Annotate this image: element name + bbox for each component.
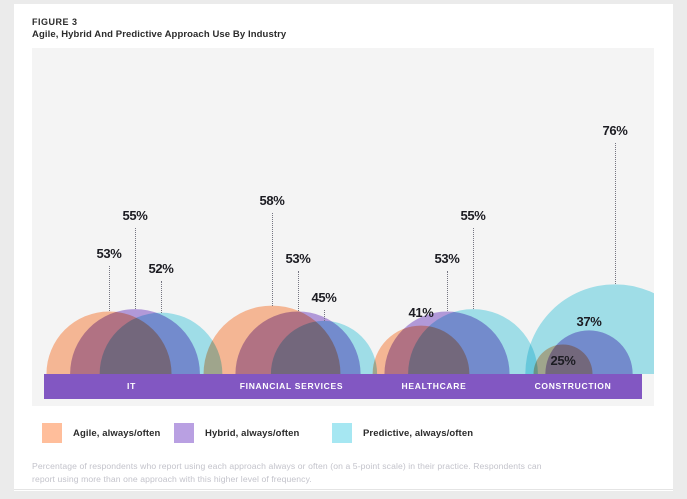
leader-line (161, 281, 162, 313)
chart-footnote: Percentage of respondents who report usi… (32, 460, 552, 486)
leader-line (272, 213, 273, 306)
axis-category-construction: CONSTRUCTION (504, 374, 642, 399)
chart-legend: Agile, always/oftenHybrid, always/oftenP… (32, 419, 654, 447)
category-axis-bar: ITFINANCIAL SERVICESHEALTHCARECONSTRUCTI… (44, 374, 642, 399)
value-label: 53% (434, 251, 459, 266)
value-label: 55% (460, 208, 485, 223)
legend-item: Hybrid, always/often (174, 419, 299, 447)
value-label: 45% (311, 290, 336, 305)
leader-line (447, 271, 448, 311)
leader-line (298, 271, 299, 311)
leader-line (324, 310, 325, 321)
value-label: 53% (285, 251, 310, 266)
value-label: 52% (148, 261, 173, 276)
legend-item: Predictive, always/often (332, 419, 473, 447)
axis-category-financial-services: FINANCIAL SERVICES (219, 374, 364, 399)
legend-swatch-icon (174, 423, 194, 443)
legend-label: Predictive, always/often (363, 428, 473, 439)
legend-label: Hybrid, always/often (205, 428, 299, 439)
leader-line (109, 266, 110, 311)
leader-line (615, 143, 616, 284)
section-divider (14, 489, 673, 490)
leader-line (135, 228, 136, 309)
figure-label: FIGURE 3 (32, 17, 78, 27)
legend-swatch-icon (332, 423, 352, 443)
page-title: Agile, Hybrid And Predictive Approach Us… (32, 29, 286, 40)
legend-swatch-icon (42, 423, 62, 443)
chart-panel: 53%55%52%58%53%45%41%53%55%25%37%76% ITF… (32, 48, 654, 406)
value-label: 37% (576, 314, 601, 329)
value-label: 25% (550, 353, 575, 368)
axis-category-healthcare: HEALTHCARE (364, 374, 504, 399)
value-label: 41% (408, 305, 433, 320)
value-label: 55% (122, 208, 147, 223)
legend-item: Agile, always/often (42, 419, 160, 447)
legend-label: Agile, always/often (73, 428, 160, 439)
value-label: 58% (259, 193, 284, 208)
value-label: 53% (96, 246, 121, 261)
leader-line (473, 228, 474, 309)
figure-card: FIGURE 3 Agile, Hybrid And Predictive Ap… (14, 4, 673, 491)
value-label: 76% (602, 123, 627, 138)
axis-category-it: IT (44, 374, 219, 399)
